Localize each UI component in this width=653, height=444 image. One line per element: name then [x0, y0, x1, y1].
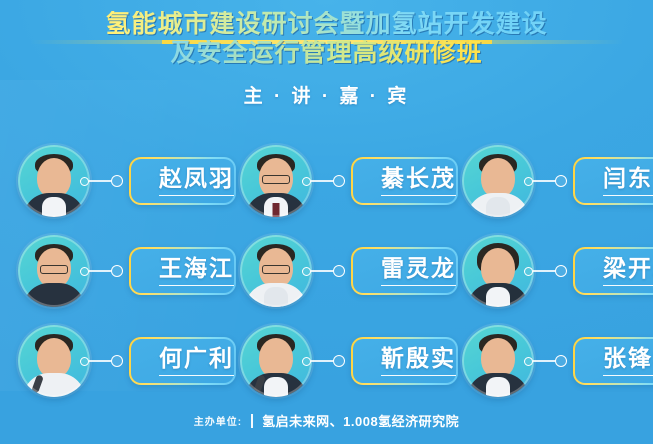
speaker-name: 王海江	[159, 257, 234, 286]
connector	[80, 355, 123, 367]
poster-root: 氢能城市建设研讨会暨加氢站开发建设 及安全运行管理高级研修班 主 · 讲 · 嘉…	[0, 0, 653, 444]
connector	[80, 265, 123, 277]
connector-dot-large	[111, 175, 123, 187]
connector-dot-small	[80, 267, 89, 276]
speaker-card[interactable]: 梁开岩	[462, 226, 653, 316]
connector-dot-small	[524, 177, 533, 186]
speaker-name: 张锋华	[603, 347, 653, 376]
name-plate[interactable]: 綦长茂	[351, 157, 458, 205]
speaker-name: 闫东雷	[603, 167, 653, 196]
connector-dot-large	[555, 355, 567, 367]
title-line-2: 及安全运行管理高级研修班	[0, 40, 653, 67]
connector	[302, 265, 345, 277]
connector-dot-small	[524, 267, 533, 276]
footer-label: 主办单位:	[194, 413, 242, 428]
speaker-card[interactable]: 王海江	[18, 226, 236, 316]
speaker-name: 雷灵龙	[381, 257, 456, 286]
connector-dot-large	[555, 175, 567, 187]
name-plate[interactable]: 闫东雷	[573, 157, 653, 205]
speaker-name: 綦长茂	[381, 167, 456, 196]
connector-line	[311, 270, 333, 272]
connector-dot-small	[302, 267, 311, 276]
speaker-card[interactable]: 赵凤羽	[18, 136, 236, 226]
connector-dot-small	[524, 357, 533, 366]
name-plate[interactable]: 何广利	[129, 337, 236, 385]
connector	[302, 175, 345, 187]
connector-dot-large	[333, 265, 345, 277]
connector-line	[533, 180, 555, 182]
speaker-card[interactable]: 张锋华	[462, 316, 653, 406]
connector	[524, 265, 567, 277]
connector-dot-small	[302, 357, 311, 366]
speaker-grid: 赵凤羽 綦长茂	[18, 136, 635, 406]
connector-dot-large	[333, 175, 345, 187]
name-plate[interactable]: 雷灵龙	[351, 247, 458, 295]
connector-line	[311, 360, 333, 362]
connector	[524, 355, 567, 367]
speaker-card[interactable]: 何广利	[18, 316, 236, 406]
connector-dot-small	[80, 177, 89, 186]
section-subtitle: 主 · 讲 · 嘉 · 宾	[0, 81, 653, 108]
speaker-name: 梁开岩	[603, 257, 653, 286]
connector-dot-small	[302, 177, 311, 186]
name-plate[interactable]: 张锋华	[573, 337, 653, 385]
footer-organizers: 氢启未来网、1.008氢经济研究院	[262, 411, 459, 430]
speaker-card[interactable]: 靳殷实	[240, 316, 458, 406]
speaker-name: 何广利	[159, 347, 234, 376]
speaker-card[interactable]: 綦长茂	[240, 136, 458, 226]
connector-line	[311, 180, 333, 182]
connector	[524, 175, 567, 187]
name-plate[interactable]: 梁开岩	[573, 247, 653, 295]
speaker-card[interactable]: 雷灵龙	[240, 226, 458, 316]
title-line-1: 氢能城市建设研讨会暨加氢站开发建设	[0, 11, 653, 38]
connector-line	[89, 180, 111, 182]
connector	[302, 355, 345, 367]
connector-dot-small	[80, 357, 89, 366]
connector	[80, 175, 123, 187]
connector-dot-large	[555, 265, 567, 277]
speaker-name: 赵凤羽	[159, 167, 234, 196]
connector-dot-large	[111, 355, 123, 367]
connector-dot-large	[333, 355, 345, 367]
connector-dot-large	[111, 265, 123, 277]
speaker-name: 靳殷实	[381, 347, 456, 376]
connector-line	[89, 360, 111, 362]
name-plate[interactable]: 赵凤羽	[129, 157, 236, 205]
connector-line	[533, 270, 555, 272]
poster-footer: 主办单位: 氢启未来网、1.008氢经济研究院	[0, 411, 653, 430]
footer-divider	[251, 414, 253, 428]
speaker-card[interactable]: 闫东雷	[462, 136, 653, 226]
poster-header: 氢能城市建设研讨会暨加氢站开发建设 及安全运行管理高级研修班 主 · 讲 · 嘉…	[0, 0, 653, 108]
name-plate[interactable]: 靳殷实	[351, 337, 458, 385]
connector-line	[89, 270, 111, 272]
name-plate[interactable]: 王海江	[129, 247, 236, 295]
connector-line	[533, 360, 555, 362]
